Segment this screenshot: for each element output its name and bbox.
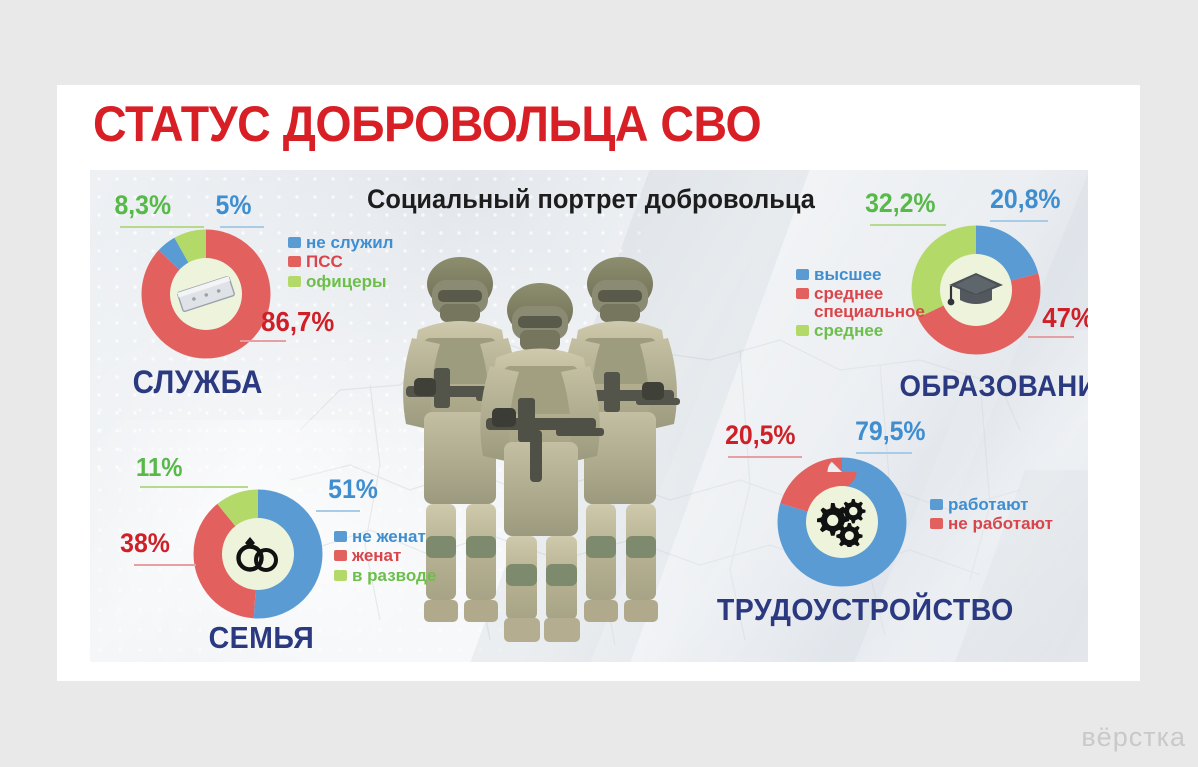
legend-item-higher: высшее bbox=[796, 266, 934, 283]
legend-label: среднее bbox=[814, 322, 883, 339]
legend-item-officers: офицеры bbox=[288, 273, 393, 290]
legend-label: в разводе bbox=[352, 567, 436, 584]
chart-sluzhba: 8,3% 5% bbox=[110, 190, 410, 410]
chart-trudoustroystvo: 20,5% 79,5% bbox=[704, 420, 1044, 640]
sluzhba-pct-officers: 8,3% bbox=[114, 190, 171, 221]
legend-label: работают bbox=[948, 496, 1029, 513]
obrazovanie-legend: высшее среднее специальное среднее bbox=[796, 266, 934, 341]
legend-label: среднее специальное bbox=[814, 285, 934, 320]
obrazovanie-title: ОБРАЗОВАНИЕ bbox=[899, 370, 1088, 404]
wedding-rings-icon bbox=[230, 534, 286, 574]
swatch-red-icon bbox=[796, 288, 809, 299]
semya-pct-single: 51% bbox=[328, 474, 378, 505]
watermark: вёрстка bbox=[1081, 722, 1186, 753]
legend-label: не женат bbox=[352, 528, 426, 545]
gears-icon bbox=[813, 497, 871, 547]
legend-item-secondary: среднее bbox=[796, 322, 934, 339]
legend-item-not-working: не работают bbox=[930, 515, 1053, 532]
semya-pct-married: 38% bbox=[120, 528, 170, 559]
legend-item-married: женат bbox=[334, 547, 436, 564]
legend-item-pss: ПСС bbox=[288, 253, 393, 270]
legend-item-divorced: в разводе bbox=[334, 567, 436, 584]
legend-label: высшее bbox=[814, 266, 882, 283]
swatch-green-icon bbox=[288, 276, 301, 287]
legend-label: офицеры bbox=[306, 273, 387, 290]
swatch-blue-icon bbox=[930, 499, 943, 510]
swatch-blue-icon bbox=[288, 237, 301, 248]
semya-pct-divorced: 11% bbox=[136, 452, 183, 483]
obrazovanie-pct-vocational: 47% bbox=[1042, 302, 1088, 334]
obrazovanie-pct-secondary: 32,2% bbox=[865, 188, 935, 219]
sluzhba-legend: не служил ПСС офицеры bbox=[288, 234, 393, 292]
semya-title: СЕМЬЯ bbox=[209, 620, 315, 656]
legend-label: не работают bbox=[948, 515, 1053, 532]
obrazovanie-leader-higher bbox=[990, 220, 1048, 222]
infographic-panel: Социальный портрет добровольца bbox=[90, 170, 1088, 662]
trud-pct-working: 79,5% bbox=[855, 416, 925, 447]
legend-label: женат bbox=[352, 547, 401, 564]
legend-item-single: не женат bbox=[334, 528, 436, 545]
semya-leader-married bbox=[134, 564, 196, 566]
infographic-page: СТАТУС ДОБРОВОЛЬЦА СВО bbox=[0, 0, 1198, 767]
graduation-cap-icon bbox=[947, 269, 1005, 311]
infographic-subtitle: Социальный портрет добровольца bbox=[367, 184, 815, 215]
page-title: СТАТУС ДОБРОВОЛЬЦА СВО bbox=[93, 95, 761, 153]
sluzhba-title: СЛУЖБА bbox=[133, 364, 263, 401]
sluzhba-pct-notserved: 5% bbox=[216, 190, 252, 221]
trud-donut bbox=[776, 456, 908, 588]
legend-item-vocational: среднее специальное bbox=[796, 285, 934, 320]
swatch-blue-icon bbox=[334, 531, 347, 542]
legend-item-not-served: не служил bbox=[288, 234, 393, 251]
trud-leader-working bbox=[856, 452, 912, 454]
chart-semya: 11% bbox=[112, 452, 432, 652]
swatch-red-icon bbox=[288, 256, 301, 267]
chart-obrazovanie: 32,2% 20,8% bbox=[790, 188, 1088, 418]
legend-item-working: работают bbox=[930, 496, 1053, 513]
article-card: СТАТУС ДОБРОВОЛЬЦА СВО bbox=[57, 85, 1140, 681]
swatch-green-icon bbox=[796, 325, 809, 336]
legend-label: ПСС bbox=[306, 253, 343, 270]
swatch-red-icon bbox=[334, 550, 347, 561]
trud-legend: работают не работают bbox=[930, 496, 1053, 535]
sluzhba-pct-pss: 86,7% bbox=[261, 306, 334, 338]
trud-pct-not-working: 20,5% bbox=[725, 420, 795, 451]
semya-donut bbox=[192, 488, 324, 620]
swatch-green-icon bbox=[334, 570, 347, 581]
semya-leader-single bbox=[316, 510, 360, 512]
sluzhba-leader-pss bbox=[240, 340, 286, 342]
swatch-red-icon bbox=[930, 518, 943, 529]
trud-title: ТРУДОУСТРОЙСТВО bbox=[717, 592, 1014, 628]
semya-legend: не женат женат в разводе bbox=[334, 528, 436, 586]
legend-label: не служил bbox=[306, 234, 393, 251]
epaulette-icon bbox=[175, 274, 237, 314]
obrazovanie-pct-higher: 20,8% bbox=[990, 184, 1060, 215]
obrazovanie-leader-vocational bbox=[1028, 336, 1074, 338]
swatch-blue-icon bbox=[796, 269, 809, 280]
